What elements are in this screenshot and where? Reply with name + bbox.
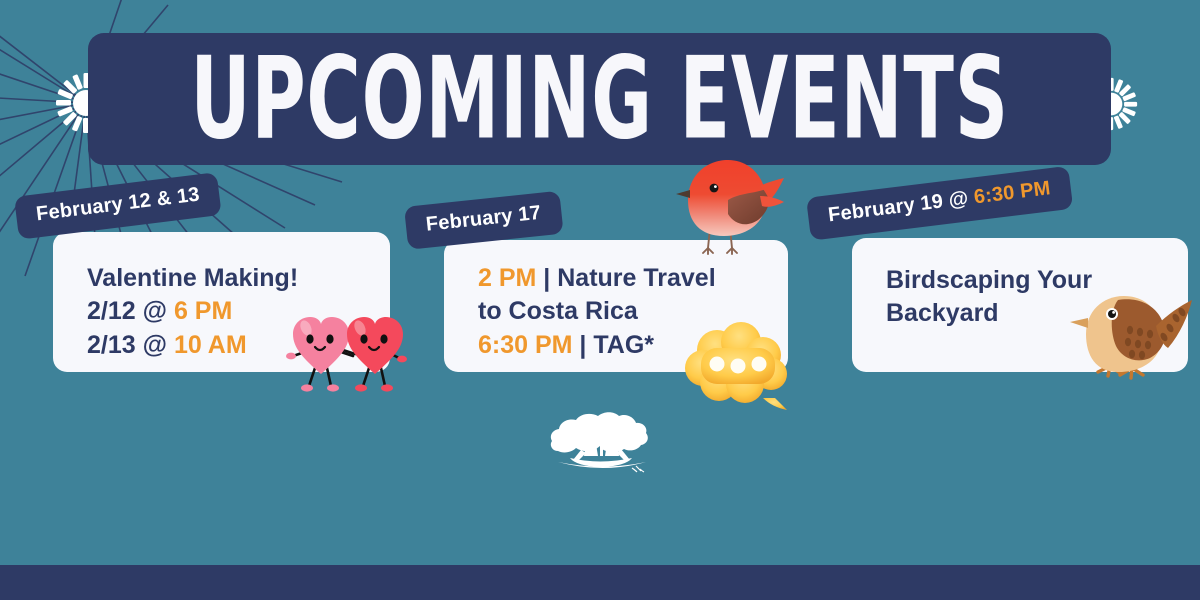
nature-center-logo	[546, 406, 656, 480]
event-card-1-date-tag: February 12 & 13	[14, 172, 222, 240]
event-card-1-text: Valentine Making! 2/12 @ 6 PM 2/13 @ 10 …	[53, 232, 390, 362]
event-line: Birdscaping Your	[886, 264, 1160, 297]
page-title: UPCOMING EVENTS	[190, 42, 1009, 155]
event-card-2-text: 2 PM | Nature Travel to Costa Rica 6:30 …	[444, 240, 788, 362]
event-line: Backyard	[886, 297, 1160, 330]
event-line: 2 PM | Nature Travel	[478, 262, 760, 295]
poster-canvas: UPCOMING EVENTS Valentine Making! 2/12 @…	[0, 0, 1200, 600]
event-card-3-date-tag: February 19 @ 6:30 PM	[806, 166, 1073, 241]
event-line: 2/13 @ 10 AM	[87, 329, 362, 362]
event-line: to Costa Rica	[478, 295, 760, 328]
header-banner: UPCOMING EVENTS	[88, 33, 1111, 165]
event-card-3[interactable]: Birdscaping Your Backyard	[852, 238, 1188, 372]
event-line: Valentine Making!	[87, 262, 362, 295]
event-card-2[interactable]: 2 PM | Nature Travel to Costa Rica 6:30 …	[444, 240, 788, 372]
event-card-1[interactable]: Valentine Making! 2/12 @ 6 PM 2/13 @ 10 …	[53, 232, 390, 372]
event-line: 6:30 PM | TAG*	[478, 329, 760, 362]
bottom-bar	[0, 565, 1200, 600]
event-line: 2/12 @ 6 PM	[87, 295, 362, 328]
event-card-3-text: Birdscaping Your Backyard	[852, 238, 1188, 331]
